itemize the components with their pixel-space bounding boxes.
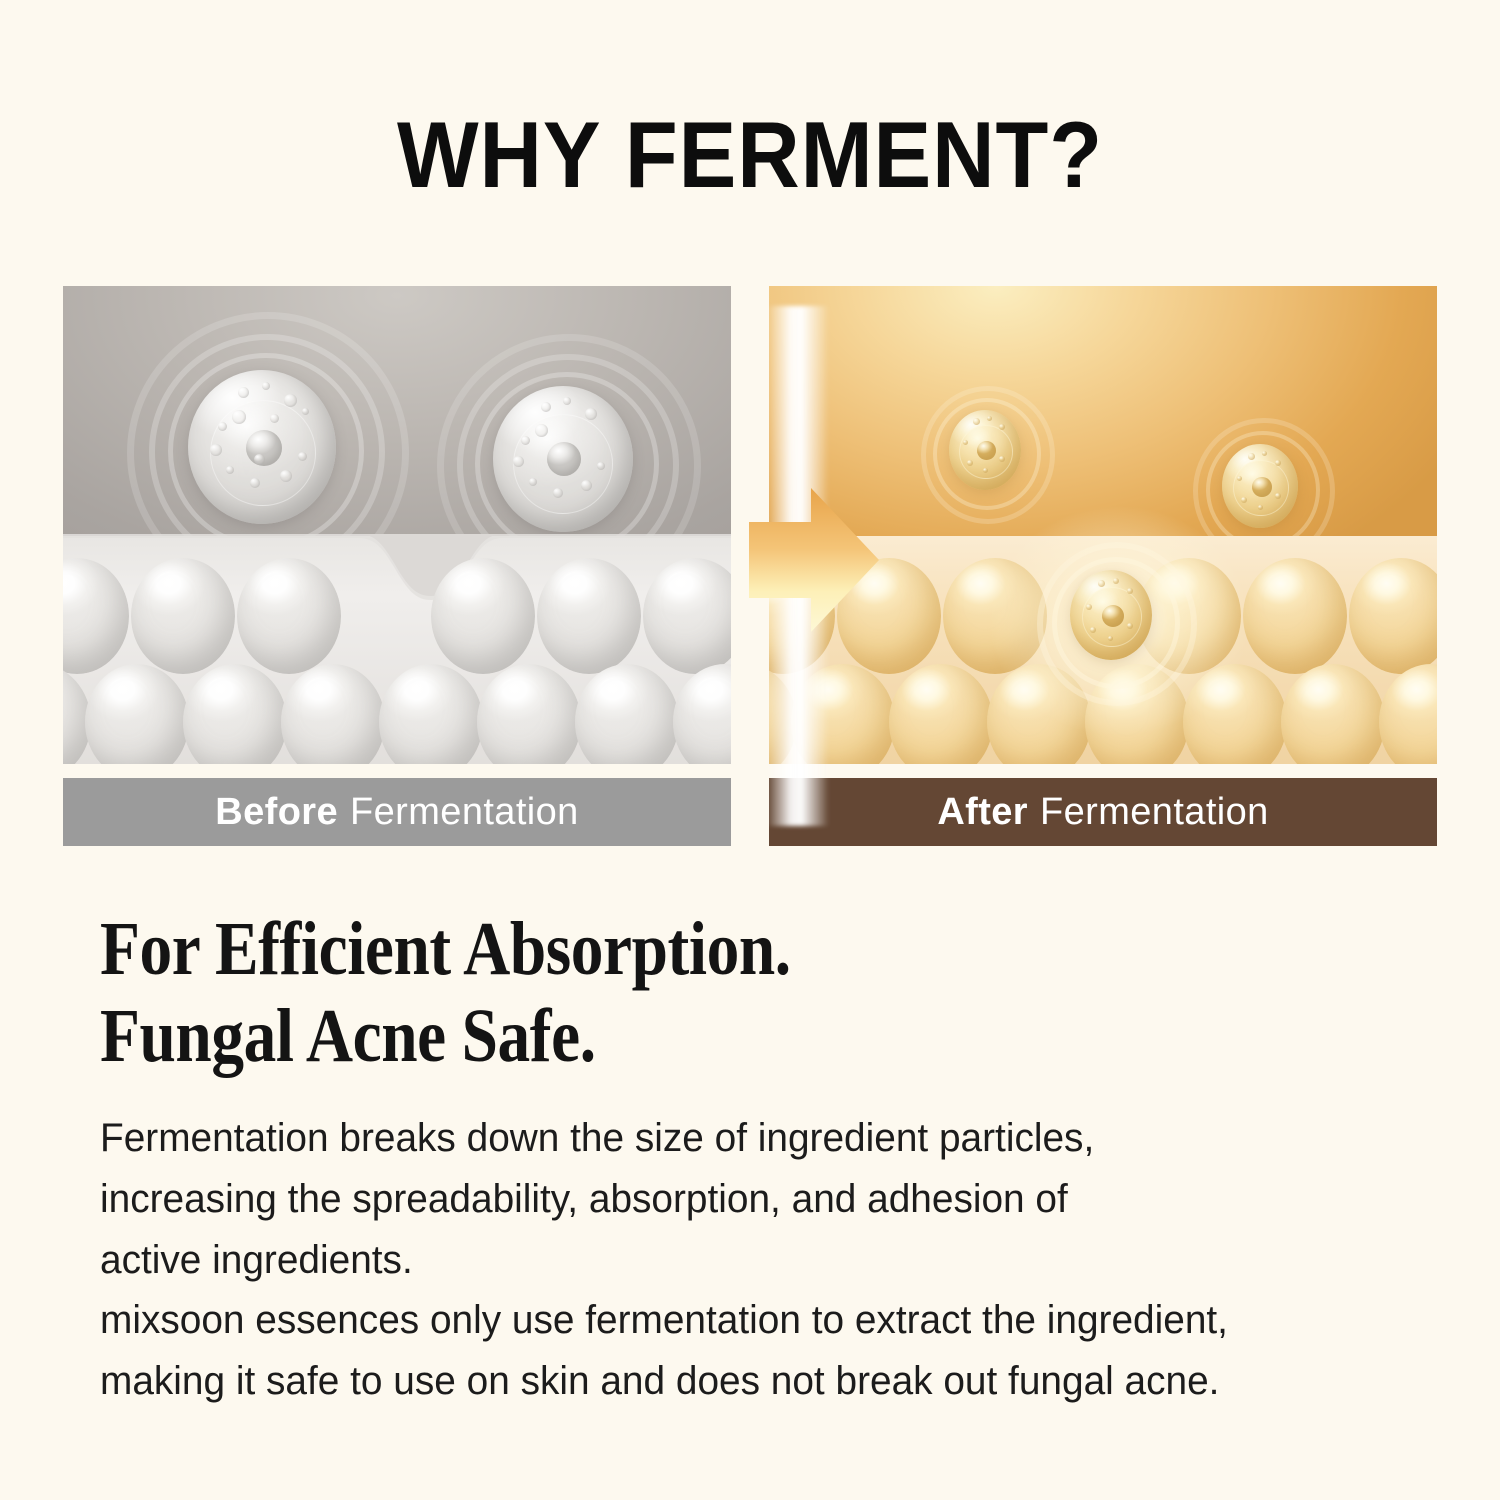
body-p1-line-1: Fermentation breaks down the size of ing…	[100, 1108, 1390, 1169]
headline-line-2: Fungal Acne Safe.	[100, 993, 1132, 1080]
headline-line-1: For Efficient Absorption.	[100, 906, 1132, 993]
body-p1-line-3: active ingredients.	[100, 1230, 1390, 1291]
body-paragraph-1: Fermentation breaks down the size of ing…	[100, 1108, 1390, 1290]
body-copy: Fermentation breaks down the size of ing…	[100, 1108, 1390, 1412]
before-label-strong: Before	[215, 791, 338, 834]
before-panel: Before Fermentation	[63, 286, 731, 846]
before-after-comparison: Before Fermentation	[63, 286, 1437, 846]
after-label-strong: After	[937, 791, 1028, 834]
headline: For Efficient Absorption. Fungal Acne Sa…	[100, 906, 1132, 1079]
before-pearl-row-lower	[63, 664, 731, 764]
after-label-bar: After Fermentation	[769, 778, 1437, 846]
body-p2-line-2: making it safe to use on skin and does n…	[100, 1351, 1390, 1412]
infographic-page: WHY FERMENT?	[0, 0, 1500, 1500]
body-p1-line-2: increasing the spreadability, absorption…	[100, 1169, 1390, 1230]
before-pearl-row-upper	[63, 558, 731, 678]
before-skin-surface	[63, 536, 731, 764]
before-label-light: Fermentation	[350, 791, 579, 834]
before-panel-illustration	[63, 286, 731, 764]
after-label-light: Fermentation	[1040, 791, 1269, 834]
before-label-bar: Before Fermentation	[63, 778, 731, 846]
page-title: WHY FERMENT?	[60, 108, 1440, 202]
arrow-right-icon	[749, 482, 881, 638]
transition-arrow	[749, 482, 881, 638]
body-paragraph-2: mixsoon essences only use fermentation t…	[100, 1290, 1390, 1412]
after-pearl-row-lower	[769, 664, 1437, 764]
body-p2-line-1: mixsoon essences only use fermentation t…	[100, 1290, 1390, 1351]
